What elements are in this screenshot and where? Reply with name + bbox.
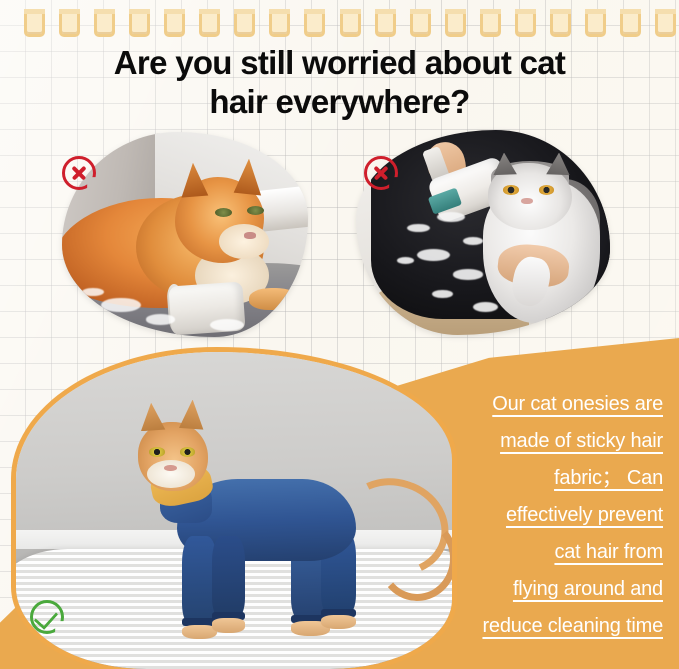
feature-description: Our cat onesies aremade of sticky hairfa… — [427, 386, 663, 645]
feature-description-line: cat hair from — [427, 534, 663, 571]
cross-badge-right-icon — [364, 156, 398, 190]
feature-description-line: made of sticky hair — [427, 423, 663, 460]
feature-description-text: reduce cleaning time — [482, 615, 663, 637]
feature-description-line: reduce cleaning time — [427, 608, 663, 645]
photo-cat-in-onesie — [16, 352, 452, 669]
check-badge-icon — [30, 600, 64, 634]
feature-description-text: fabric； Can — [554, 467, 663, 489]
headline-line-2: hair everywhere? — [26, 83, 653, 122]
product-feature-poster: Are you still worried about cat hair eve… — [0, 0, 679, 669]
feature-description-text: Our cat onesies are — [492, 393, 663, 415]
cross-badge-left-icon — [62, 156, 96, 190]
feature-description-line: fabric； Can — [427, 460, 663, 497]
feature-description-text: cat hair from — [554, 541, 663, 563]
feature-description-text: flying around and — [513, 578, 663, 600]
photo-shedding-cat — [62, 132, 308, 337]
feature-description-line: Our cat onesies are — [427, 386, 663, 423]
feature-description-line: effectively prevent — [427, 497, 663, 534]
headline-line-1: Are you still worried about cat — [114, 44, 565, 81]
page-title: Are you still worried about cat hair eve… — [0, 44, 679, 122]
feature-description-text: made of sticky hair — [500, 430, 663, 452]
feature-description-line: flying around and — [427, 571, 663, 608]
feature-description-text: effectively prevent — [506, 504, 663, 526]
